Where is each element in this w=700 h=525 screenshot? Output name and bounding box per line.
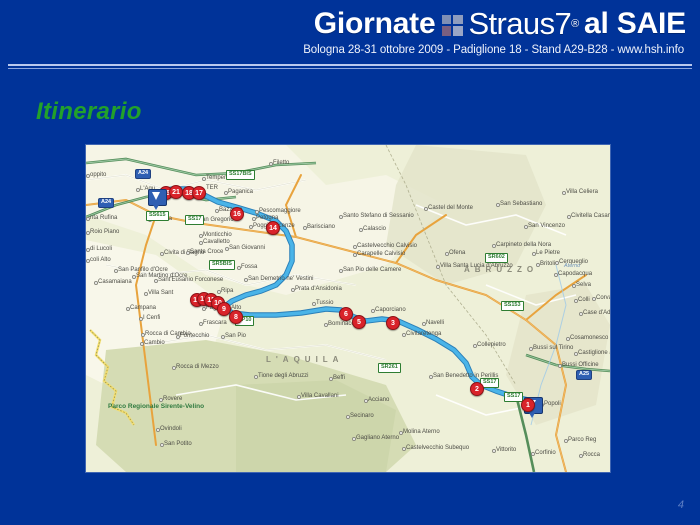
map-town-label: Cosamonesco [570,335,608,341]
map-town-label: Prata d'Ansidonia [295,286,342,292]
route-marker-8[interactable]: 8 [229,310,243,324]
map-town-label: Ofena [449,250,465,256]
map-town-label: San Vincenzo [528,223,565,229]
map-town-label: Roio Piano [90,229,119,235]
map-town-label: Monticchio [203,232,232,238]
map-town-label: Le Pietre [536,250,560,256]
route-marker-5[interactable]: 5 [352,315,366,329]
map-town-label: Rocca di Mezzo [176,364,219,370]
map-town-label: coli Alto [90,257,111,263]
map-road-shield-ss615[interactable]: SS615 [146,211,169,221]
map-town-label: Carpineto della Nora [496,242,551,248]
map-town-label: Rovere [163,396,182,402]
map-town-label: Colli [578,297,590,303]
route-marker-17[interactable]: 17 [192,186,206,200]
map-town-label: Castelvecchio Subequo [406,445,469,451]
registered-mark: ® [571,18,579,30]
map-town-label: oppito [90,172,106,178]
map-town-label: Petogna [256,215,278,221]
map-town-label: Santa Croce [190,249,223,255]
route-endpoint-start[interactable] [148,189,165,211]
route-marker-6[interactable]: 6 [339,307,353,321]
map-town-label: Popoli [544,401,561,407]
map-town-label: Castel del Monte [428,205,473,211]
map-town-label: Paganica [228,189,253,195]
map-town-label: Ovindoli [160,426,182,432]
map-province-label: L'AQUILA [266,355,343,364]
map-town-label: Molina Aterno [403,429,440,435]
map-town-label: San Potito [164,441,192,447]
map-road-shield-ss17bis[interactable]: SS17BIS [226,170,255,180]
map-town-label: Parco Reg [568,437,596,443]
pin-tip-icon [152,203,160,210]
map-town-label: Ripa [221,288,233,294]
map-town-label: Fossa [241,264,257,270]
map-town-label: Secinaro [350,413,374,419]
map-region-label: ABRUZZO [464,265,538,274]
map-town-label: Acciano [368,397,389,403]
map-road-shield-a24[interactable]: A24 [135,169,151,179]
map-town-label: Villa Celiera [566,189,598,195]
product-name: Straus7 [468,6,571,42]
map-road-shield-a25[interactable]: A25 [576,370,592,380]
header-rule-top [8,64,692,66]
route-marker-16[interactable]: 16 [230,207,244,221]
route-map[interactable]: L'AquoppitoPianolaTemperaPaganicaFiletto… [86,145,610,472]
map-town-label: Villa Sant [148,290,173,296]
route-marker-3[interactable]: 3 [386,316,400,330]
route-marker-14[interactable]: 14 [266,221,280,235]
map-town-label: Rocca [583,452,600,458]
map-town-label: Corfinio [535,450,556,456]
map-town-label: San Giovanni [229,245,265,251]
map-road-shield-ss153[interactable]: SS153 [501,301,524,311]
map-town-label: Cambio [144,340,165,346]
map-road-shield-sr5bis[interactable]: SR5BIS [209,260,235,270]
map-town-label: Vittorito [496,447,516,453]
map-town-label: San Panfilo d'Ocre [118,267,168,273]
route-marker-1[interactable]: 1 [521,398,535,412]
map-town-label: I Cenfi [143,315,160,321]
map-town-label: Castelvecchio Calvisio [357,243,417,249]
header-subtitle: Bologna 28-31 ottobre 2009 - Padiglione … [303,44,684,56]
map-town-label: Sant'Eusanio Forconese [158,277,223,283]
map-town-label: Civitella Casanova [571,213,610,219]
map-town-label: Villa Cavallani [301,393,339,399]
arrow-glyph-icon [152,192,160,200]
map-town-label: Case d'Adda [583,310,610,316]
map-town-label: Capodacqua [558,271,592,277]
map-town-label: Corvara [596,295,610,301]
map-town-label: Cavalletto [203,239,230,245]
map-town-label: San Demetrio ne' Vestini [248,276,314,282]
slide-header: Giornate Straus7 ® al SAIE Bologna 28-31… [0,0,700,72]
map-town-label: di Lucoli [90,246,112,252]
map-town-label: Bominaco [328,321,355,327]
route-marker-21[interactable]: 21 [169,185,183,199]
map-town-label: San Sebastiano [500,201,542,207]
map-town-label: Calascio [363,226,386,232]
map-town-label: Filetto [273,160,289,166]
map-town-label: Frascara [203,320,227,326]
header-title-post: al SAIE [584,9,686,39]
page-number: 4 [678,499,684,511]
straus7-squares-logo-icon [442,15,464,36]
map-park-label: Parco Regionale Sirente-Velino [108,403,204,410]
header-title: Giornate Straus7 ® al SAIE [314,6,686,42]
map-road-shield-ss17[interactable]: SS17 [504,392,523,402]
map-overlay-layer: L'AquoppitoPianolaTemperaPaganicaFiletto… [86,145,610,472]
map-town-label: nta Rufina [90,215,117,221]
map-town-label: Castiglione a Casauria [578,350,610,356]
map-town-label: Tussio [316,300,333,306]
slide-title: Itinerario [36,98,142,126]
map-town-label: Bussi sul Tirino [533,345,573,351]
map-road-shield-sr261[interactable]: SR261 [378,363,401,373]
route-marker-2[interactable]: 2 [470,382,484,396]
map-road-shield-sr602[interactable]: SR602 [485,253,508,263]
map-town-label: Britoli [540,261,555,267]
map-town-label: Barisciano [307,224,335,230]
header-rule-bottom [8,68,692,69]
map-town-label: Campana [130,305,156,311]
map-town-label: Casamaiana [98,279,132,285]
map-inter-label: TER [206,185,218,191]
map-town-label: Tione degli Abruzzi [258,373,308,379]
map-road-shield-ss17[interactable]: SS17 [185,215,204,225]
map-town-label: Navelli [426,320,444,326]
map-town-label: San Pio delle Camere [343,267,401,273]
map-river-label: Aterno [564,263,580,269]
map-town-label: Selva [576,282,591,288]
map-town-label: Collepietro [477,342,506,348]
map-town-label: Pescomaggiore [259,208,301,214]
map-town-label: San Pio [225,333,246,339]
map-town-label: Rocca di Cambio [145,331,191,337]
map-town-label: Civitaretenga [406,331,441,337]
map-town-label: Gagliano Aterno [356,435,399,441]
map-town-label: Caporciano [375,307,406,313]
header-title-pre: Giornate [314,9,436,39]
map-town-label: Bussi Officine [562,362,599,368]
map-town-label: Carapelle Calvisio [357,251,405,257]
map-town-label: Santo Stefano di Sessanio [343,213,414,219]
pin-tip-icon [528,411,536,418]
map-road-shield-a24[interactable]: A24 [98,198,114,208]
map-town-label: Beffi [333,375,345,381]
